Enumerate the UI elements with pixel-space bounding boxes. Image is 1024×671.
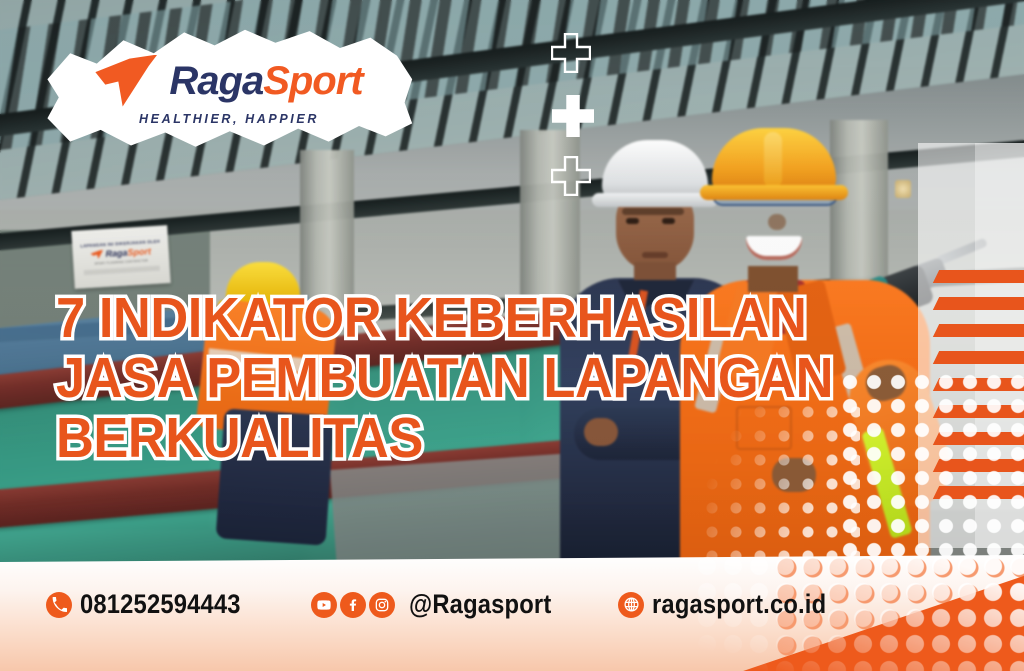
wall-banner: LAPANGAN INI DIKERJAKAN OLEH RagaSport S… <box>71 225 170 289</box>
website-url[interactable]: ragasport.co.id <box>652 589 826 620</box>
contact-row: 081252594443 <box>46 589 851 620</box>
headline-line-2: JASA PEMBUATAN LAPANGAN <box>56 352 718 405</box>
worker-neck <box>634 262 676 288</box>
contact-footer: 081252594443 <box>0 555 1024 671</box>
concrete-column-3 <box>830 120 888 550</box>
youtube-icon[interactable] <box>311 592 337 618</box>
headline-line-3: BERKUALITAS <box>56 412 718 465</box>
facebook-icon[interactable] <box>340 592 366 618</box>
social-group[interactable]: @Ragasport <box>311 589 571 620</box>
swoosh-arrow-icon <box>95 55 157 107</box>
drill-bit <box>936 238 988 266</box>
social-icon-row[interactable] <box>311 592 395 618</box>
logo-brush-stroke: RagaSport HEALTHIER, HAPPIER <box>36 22 416 152</box>
ragasport-logo: RagaSport HEALTHIER, HAPPIER <box>70 50 388 130</box>
worker-face <box>616 184 694 272</box>
worker-hand-right <box>862 361 909 404</box>
headline-block: 7 INDIKATOR KEBERHASILAN JASA PEMBUATAN … <box>56 292 776 472</box>
drill-chuck <box>912 257 949 292</box>
website-group[interactable]: ragasport.co.id <box>618 589 850 620</box>
banner-logo-sport: Sport <box>127 246 151 257</box>
white-hard-hat <box>602 140 708 202</box>
worker-mouth <box>642 252 668 258</box>
jacket-sleeve-right <box>839 349 961 516</box>
safety-goggles <box>712 184 838 206</box>
worker-hand-left <box>772 458 816 492</box>
banner-line-3: SPORT FLOORING CONTRACTOR <box>94 258 148 265</box>
headline-line-1: 7 INDIKATOR KEBERHASILAN <box>56 292 718 345</box>
reflective-strip-right <box>829 323 873 410</box>
hi-vis-yellow-band <box>861 427 912 539</box>
social-handle[interactable]: @Ragasport <box>409 589 551 620</box>
promo-poster: LAPANGAN INI DIKERJAKAN OLEH RagaSport S… <box>0 0 1024 671</box>
logo-word-raga: Raga <box>169 59 263 103</box>
logo-wordmark: RagaSport <box>169 61 362 101</box>
ceiling-lamp <box>895 180 911 198</box>
worker-face <box>724 178 824 274</box>
worker-nose <box>768 214 786 230</box>
banner-logo-raga: Raga <box>105 248 128 259</box>
worker-eye-right <box>662 218 675 224</box>
phone-icon[interactable] <box>46 592 72 618</box>
logo-word-sport: Sport <box>263 59 362 103</box>
banner-footer-strip <box>83 266 160 276</box>
phone-group[interactable]: 081252594443 <box>46 589 263 620</box>
globe-icon[interactable] <box>618 592 644 618</box>
phone-number[interactable]: 081252594443 <box>80 589 241 620</box>
drill-motor <box>863 264 935 323</box>
worker-brow <box>622 208 684 215</box>
instagram-icon[interactable] <box>369 592 395 618</box>
worker-eye-left <box>626 218 639 224</box>
worker-smile <box>746 236 802 260</box>
swoosh-arrow-icon <box>90 250 104 260</box>
orange-hard-hat <box>712 128 836 194</box>
logo-tagline: HEALTHIER, HAPPIER <box>139 112 319 126</box>
